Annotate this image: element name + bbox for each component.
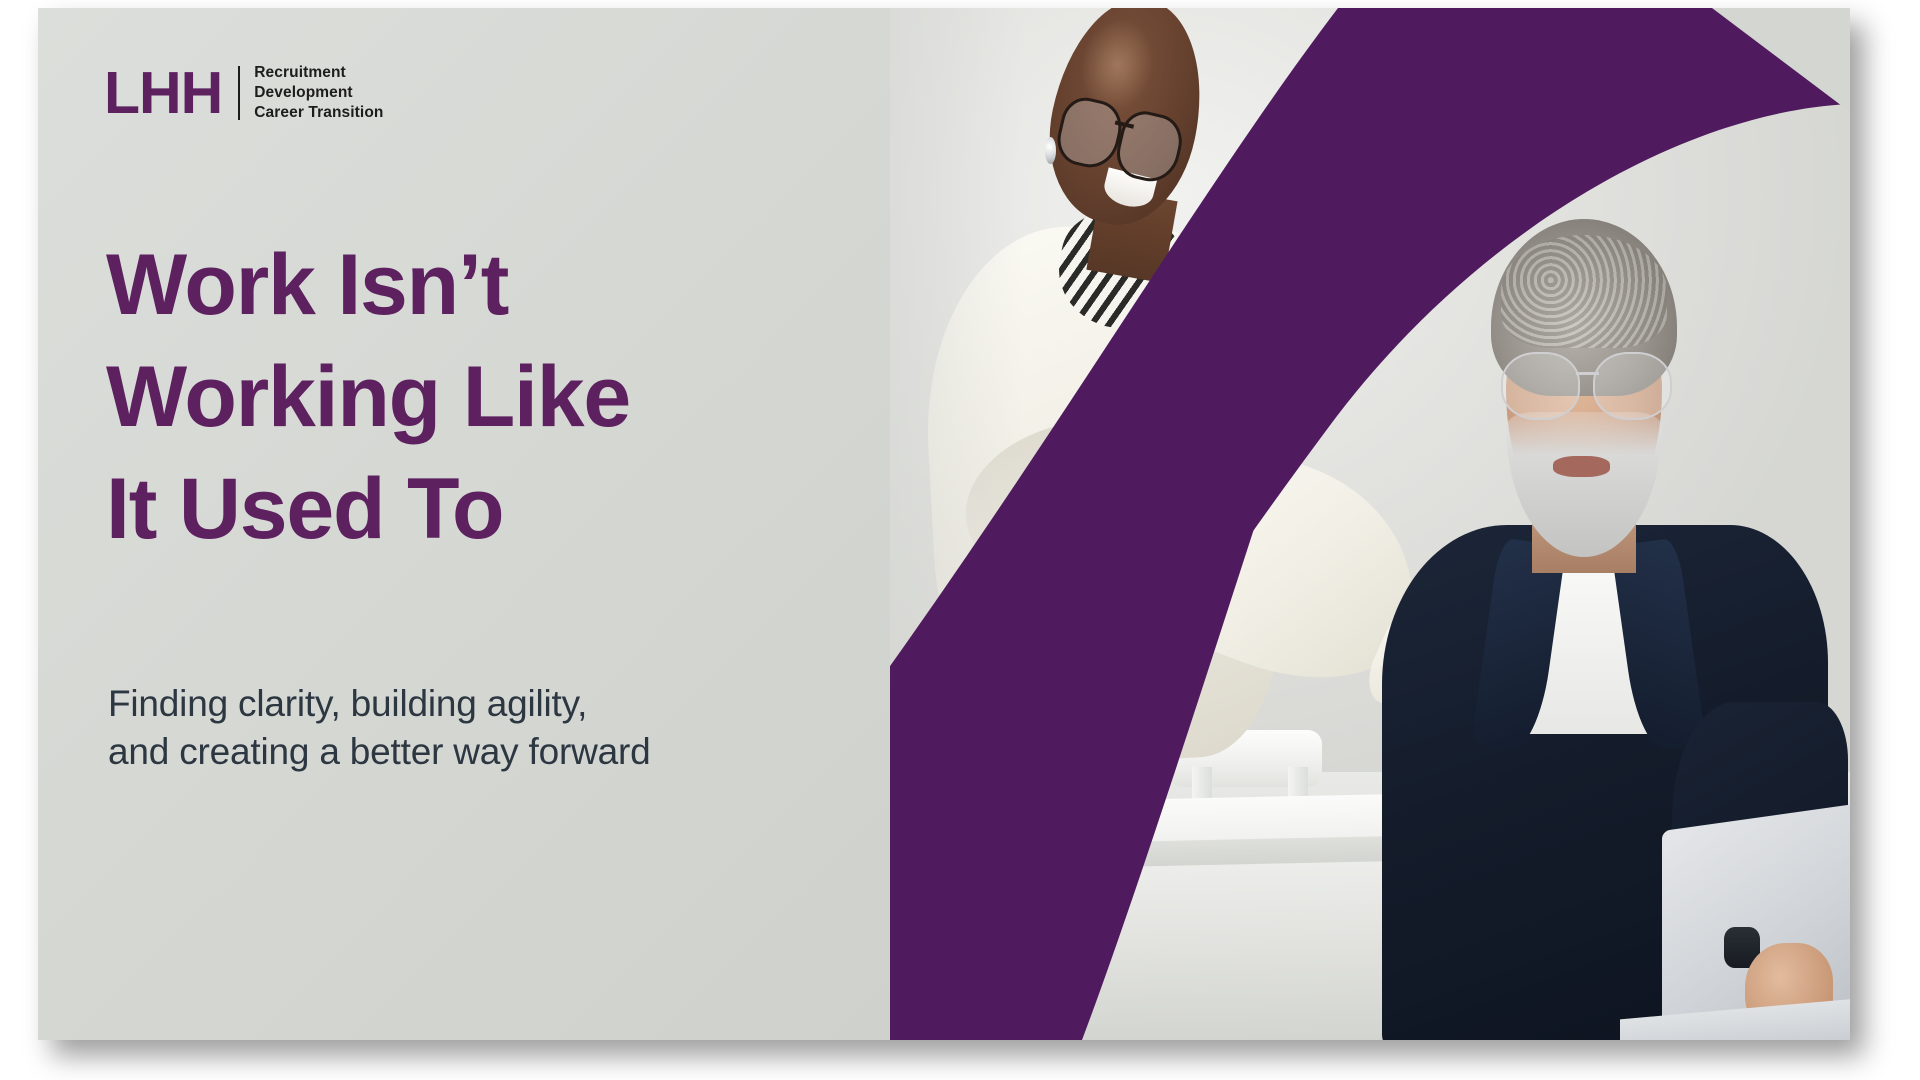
slide-headline: Work Isn’t Working Like It Used To — [106, 230, 866, 565]
logo-tagline-line-1: Recruitment — [254, 64, 383, 83]
lhh-logo: LHH Recruitment Development Career Trans… — [104, 64, 383, 123]
title-slide-card: LHH Recruitment Development Career Trans… — [38, 8, 1850, 1040]
subtitle-line-1: Finding clarity, building agility, — [108, 680, 848, 728]
logo-tagline-line-2: Development — [254, 84, 383, 103]
logo-wordmark: LHH — [104, 65, 222, 121]
logo-tagline-line-3: Career Transition — [254, 104, 383, 123]
headline-line-1: Work Isn’t — [106, 230, 866, 342]
slide-subtitle: Finding clarity, building agility, and c… — [108, 680, 848, 776]
logo-divider — [238, 66, 240, 120]
slide-photograph — [890, 8, 1850, 1040]
subtitle-line-2: and creating a better way forward — [108, 728, 848, 776]
logo-tagline: Recruitment Development Career Transitio… — [254, 64, 383, 123]
headline-line-3: It Used To — [106, 454, 866, 566]
screenshot-root: LHH Recruitment Development Career Trans… — [0, 0, 1920, 1080]
headline-line-2: Working Like — [106, 342, 866, 454]
photo-left-blend — [890, 8, 1850, 1040]
